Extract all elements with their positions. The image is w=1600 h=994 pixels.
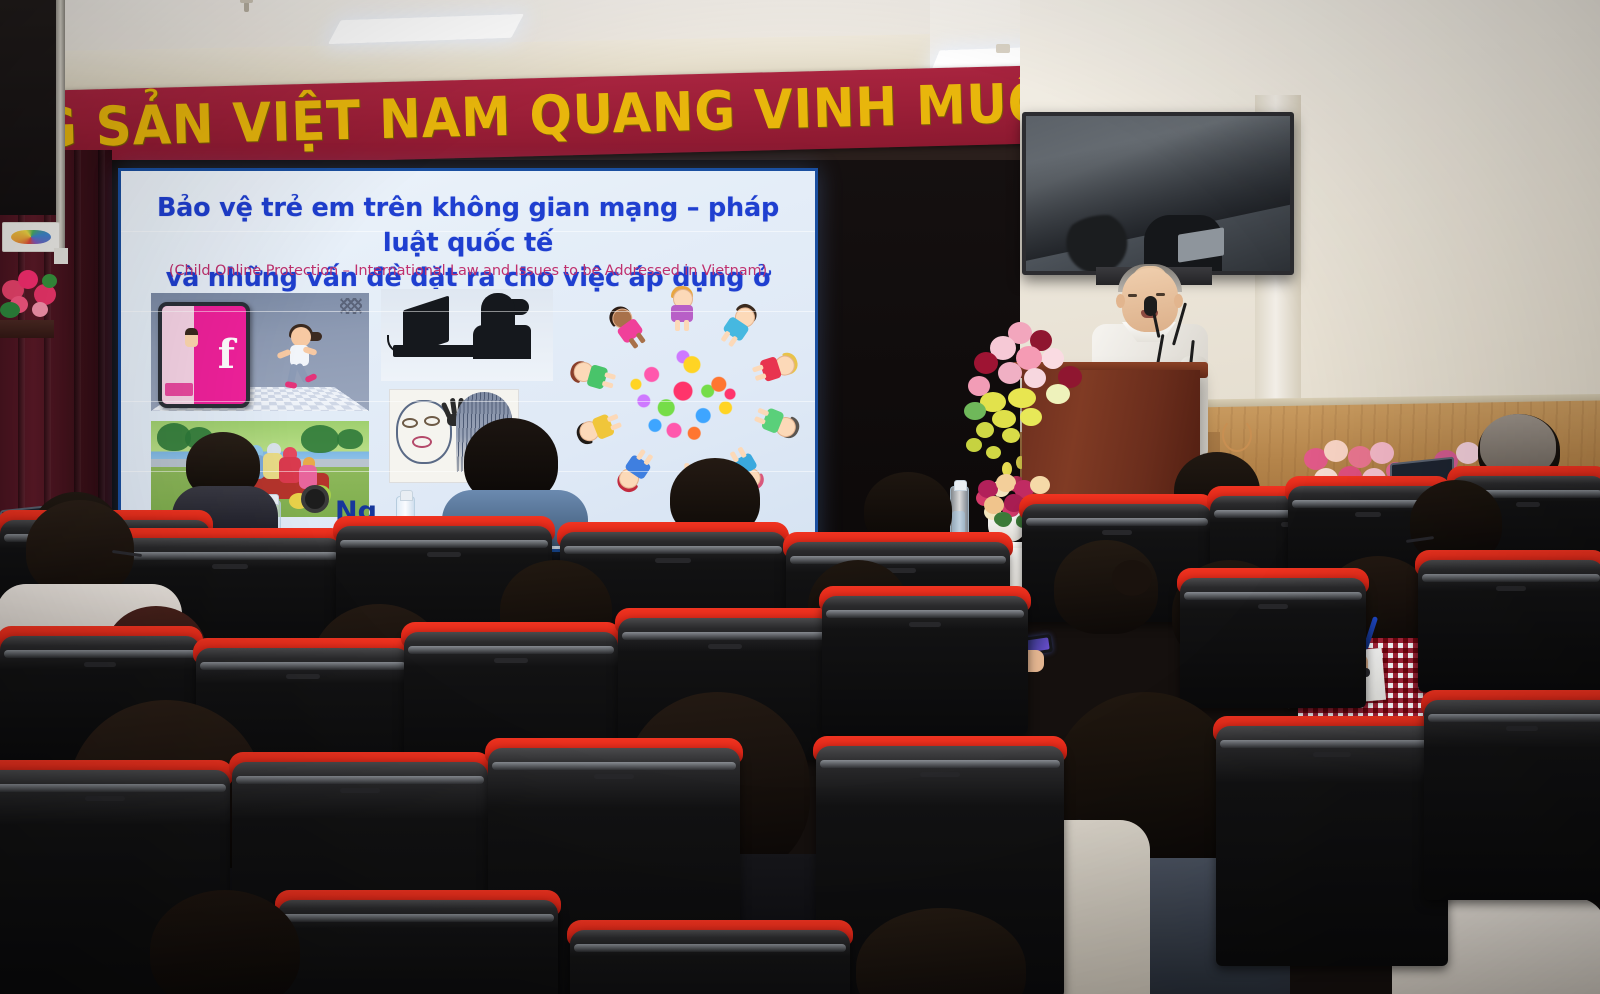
auditorium-seat[interactable] xyxy=(278,900,558,994)
facebook-logo-icon: f xyxy=(218,338,235,372)
speaker-eye xyxy=(1156,293,1165,296)
running-child-figure xyxy=(273,327,327,389)
rainbow-logo-placard xyxy=(2,222,60,252)
smartphone-icon: f xyxy=(158,302,250,408)
ceiling-vent xyxy=(996,44,1010,53)
decorative-flowers-left xyxy=(0,268,64,326)
child-figure xyxy=(749,347,798,389)
child-figure xyxy=(604,302,653,354)
cable-loop xyxy=(1222,418,1252,452)
slide-subtitle: (Child Online Protection – International… xyxy=(135,263,801,279)
flower-globe-icon xyxy=(627,347,739,445)
child-figure xyxy=(667,289,697,331)
wall-mounted-tv[interactable] xyxy=(1022,112,1294,275)
child-figure xyxy=(612,444,660,496)
conference-hall-photo: G SẢN VIỆT NAM QUANG VINH MUÔN NĂM Bảo v… xyxy=(0,0,1600,994)
speaker-eye xyxy=(1128,294,1137,297)
placard-mount xyxy=(54,248,68,264)
flower-arrangement-podium xyxy=(962,318,1092,468)
auditorium-seat[interactable] xyxy=(1216,726,1448,966)
slide-title-line1: Bảo vệ trẻ em trên không gian mạng – phá… xyxy=(135,191,801,261)
rainbow-logo-icon xyxy=(11,230,51,244)
microphone-head-icon xyxy=(1144,296,1157,316)
speaker-ear xyxy=(1116,294,1125,308)
auditorium-seat[interactable] xyxy=(1424,700,1600,900)
sprinkler-icon xyxy=(244,2,249,12)
support-pole xyxy=(56,0,65,250)
child-figure xyxy=(575,406,625,450)
child-figure xyxy=(751,400,801,444)
slide-image-child-silhouette xyxy=(381,289,553,381)
audience-person-front xyxy=(846,908,1046,994)
tv-screen xyxy=(1026,116,1290,271)
auditorium-seat[interactable] xyxy=(570,930,850,994)
wall-speaker-panel xyxy=(0,0,64,215)
auditorium-seat[interactable] xyxy=(822,596,1028,734)
child-figure xyxy=(714,300,762,352)
wall-shelf xyxy=(0,320,54,338)
auditorium-seat[interactable] xyxy=(1180,578,1366,708)
child-figure xyxy=(570,356,619,396)
audience-person-front xyxy=(140,880,320,994)
auditorium-seat[interactable] xyxy=(1418,560,1600,692)
